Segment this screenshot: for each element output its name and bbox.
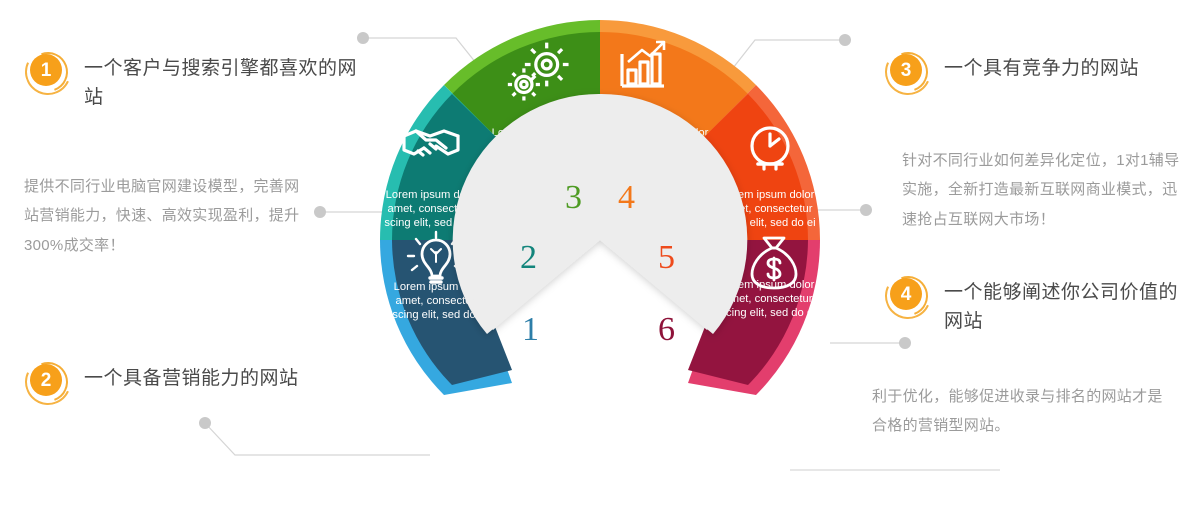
- callout-4-header: 4 一个能够阐述你公司价值的网站: [884, 272, 1184, 336]
- badge-number-2: 2: [30, 364, 62, 396]
- callout-4-body: 利于优化，能够促进收录与排名的网站才是合格的营销型网站。: [872, 382, 1172, 441]
- connector-dot-1b: [314, 206, 326, 218]
- callout-2: 2 一个具备营销能力的网站: [24, 358, 364, 402]
- badge-3: 3: [884, 48, 928, 92]
- badge-4: 4: [884, 272, 928, 316]
- callout-3-body: 针对不同行业如何差异化定位，1对1辅导实施，全新打造最新互联网商业模式，迅速抢占…: [902, 146, 1188, 234]
- badge-number-3: 3: [890, 54, 922, 86]
- center-number-5: 5: [658, 239, 675, 276]
- callout-3: 3 一个具有竞争力的网站: [884, 48, 1184, 92]
- center-number-3: 3: [565, 179, 582, 216]
- callout-1-body: 提供不同行业电脑官网建设模型，完善网站营销能力，快速、高效实现盈利，提升300%…: [24, 172, 306, 260]
- connector-dot-4: [899, 337, 911, 349]
- badge-number-4: 4: [890, 278, 922, 310]
- badge-2: 2: [24, 358, 68, 402]
- center-number-1: 1: [522, 311, 539, 348]
- infographic-stage: Lorem ipsum doloramet, consecteturscing …: [0, 0, 1200, 520]
- badge-1: 1: [24, 48, 68, 92]
- callout-1: 1 一个客户与搜索引擎都喜欢的网站: [24, 48, 364, 112]
- donut-wheel: Lorem ipsum doloramet, consecteturscing …: [360, 0, 840, 480]
- callout-2-title: 一个具备营销能力的网站: [84, 358, 299, 394]
- callout-3-header: 3 一个具有竞争力的网站: [884, 48, 1184, 92]
- connector-dot-3: [839, 34, 851, 46]
- callout-1-header: 1 一个客户与搜索引擎都喜欢的网站: [24, 48, 364, 112]
- callout-1-title: 一个客户与搜索引擎都喜欢的网站: [84, 48, 364, 112]
- center-number-6: 6: [658, 311, 675, 348]
- callout-4-title: 一个能够阐述你公司价值的网站: [944, 272, 1184, 336]
- connector-dot-3b: [860, 204, 872, 216]
- callout-3-title: 一个具有竞争力的网站: [944, 48, 1139, 84]
- callout-2-header: 2 一个具备营销能力的网站: [24, 358, 364, 402]
- center-number-4: 4: [618, 179, 635, 216]
- connector-dot-2: [199, 417, 211, 429]
- center-number-2: 2: [520, 239, 537, 276]
- callout-4: 4 一个能够阐述你公司价值的网站: [884, 272, 1184, 336]
- badge-number-1: 1: [30, 54, 62, 86]
